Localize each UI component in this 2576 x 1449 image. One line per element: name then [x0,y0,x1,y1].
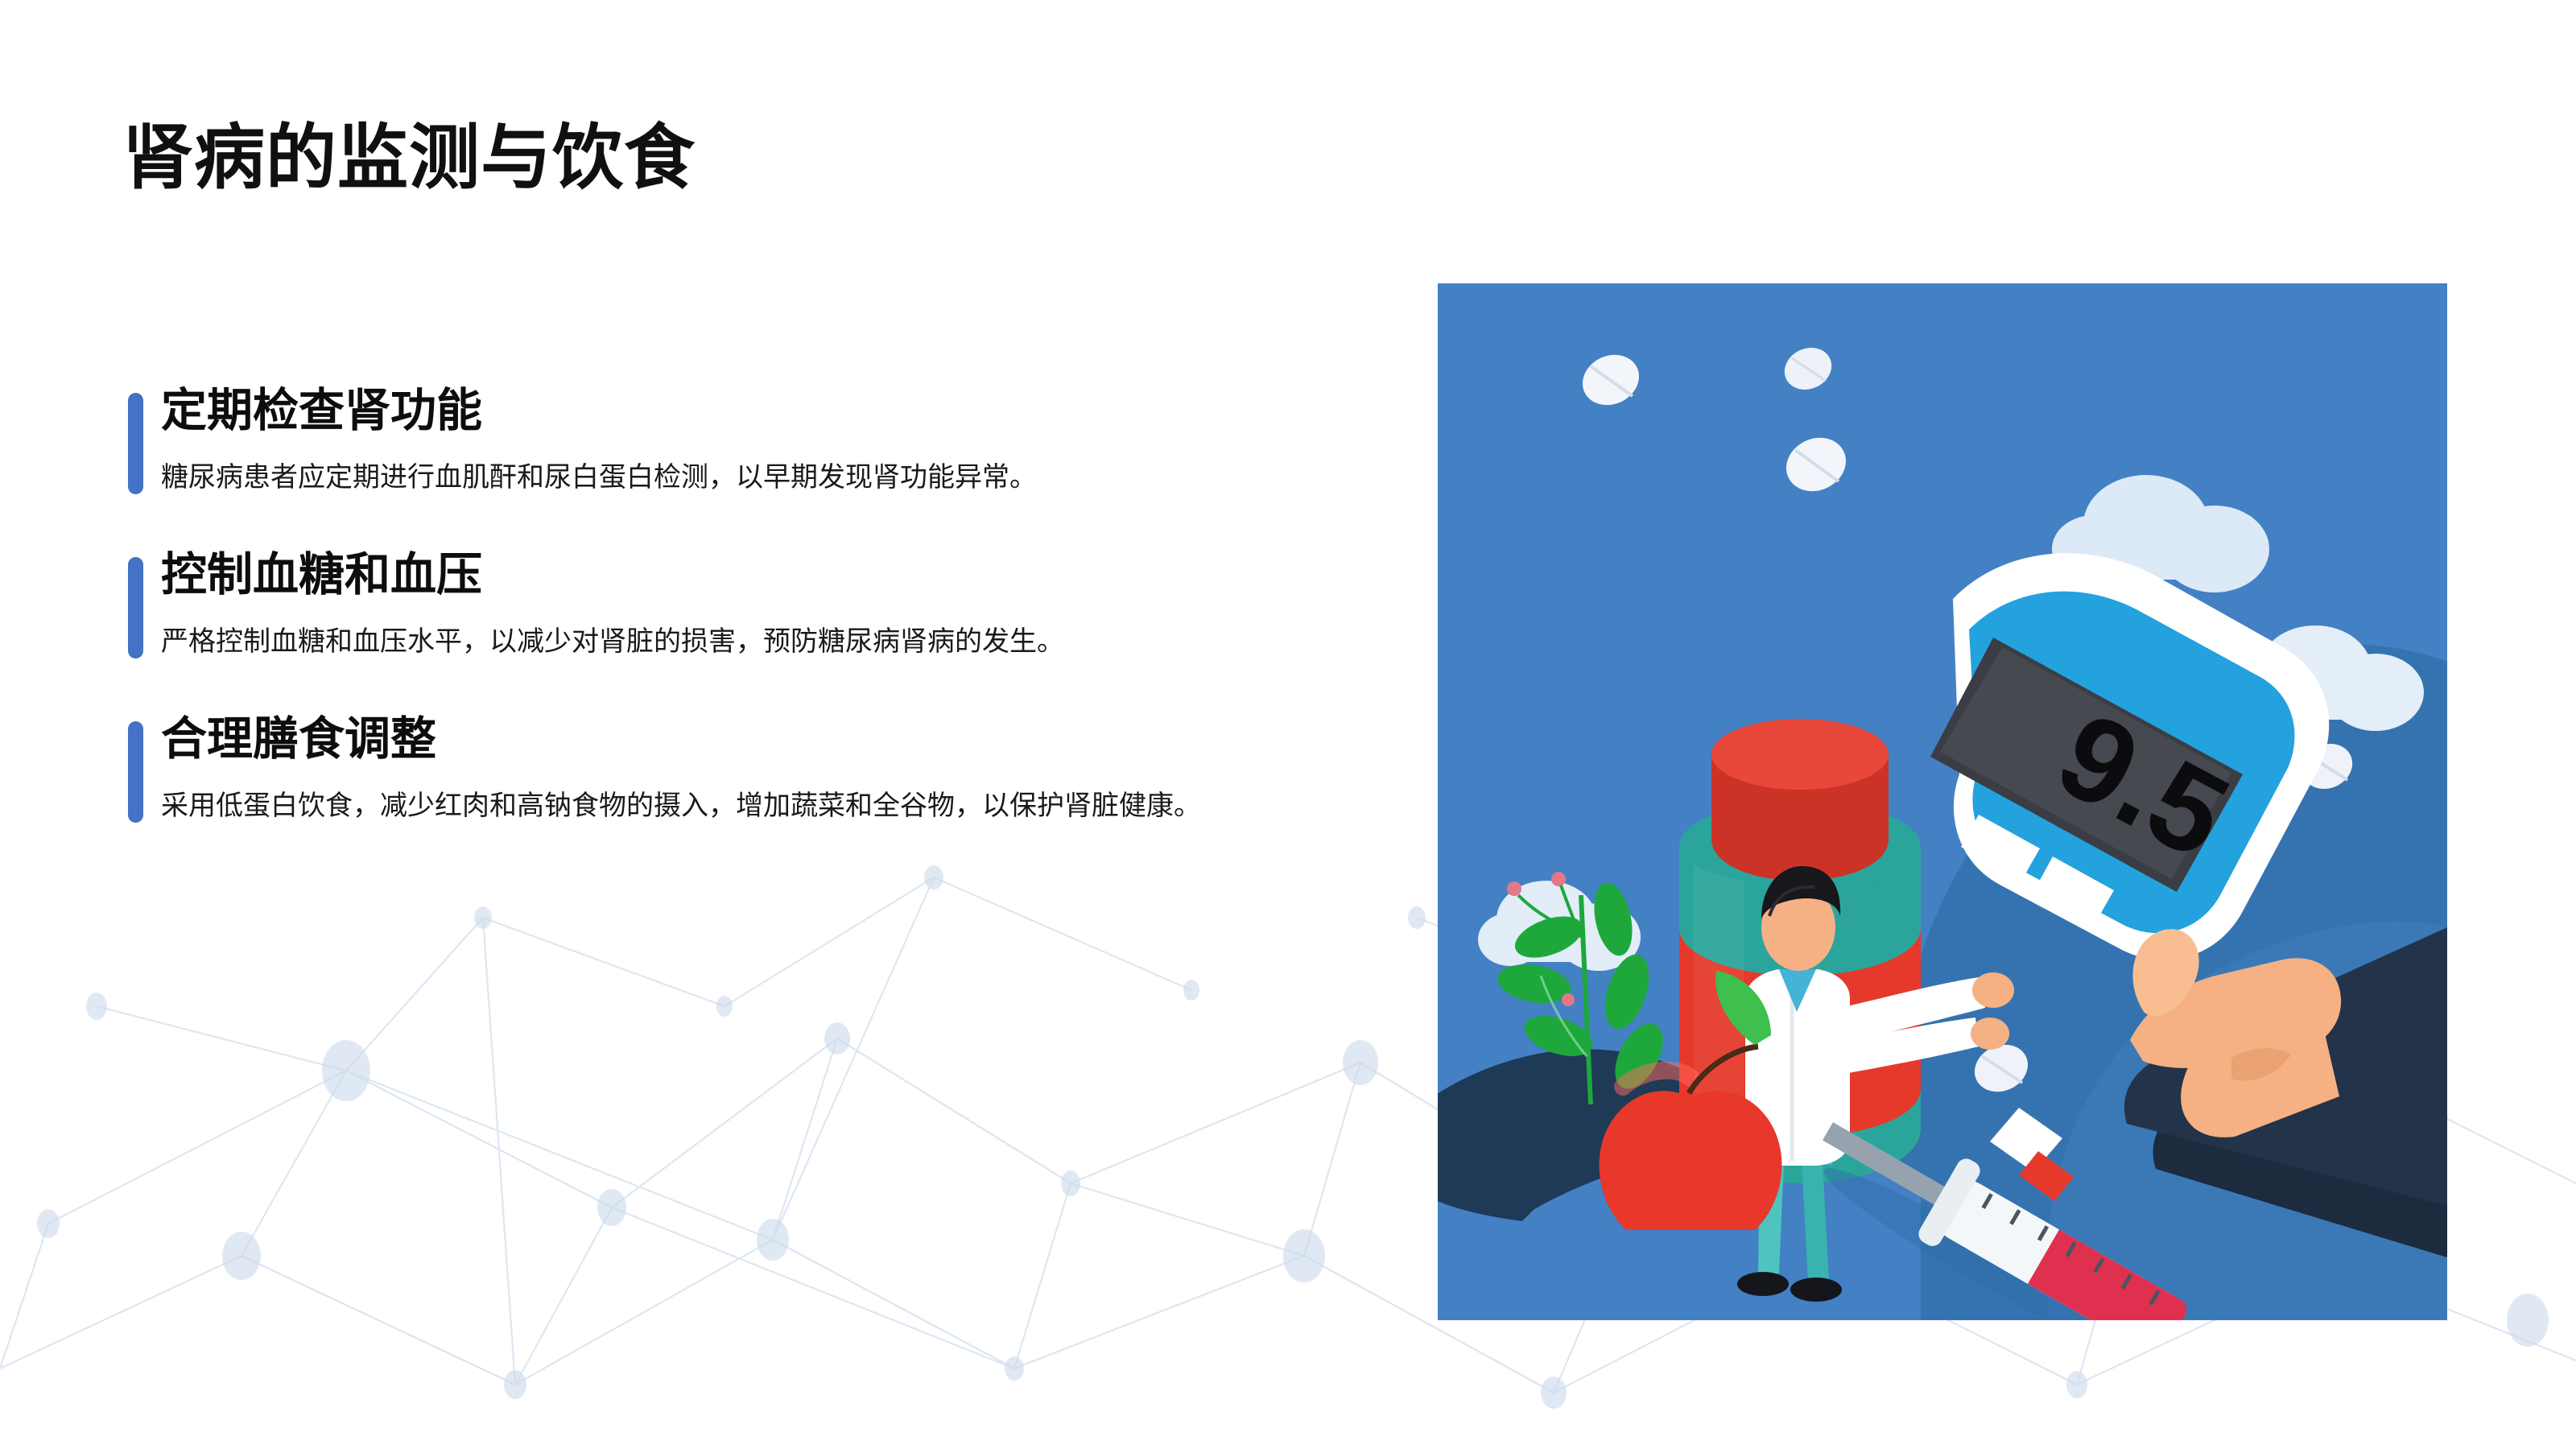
section-heading-1: 定期检查肾功能 [161,378,1346,443]
section-block-3: 合理膳食调整 采用低蛋白饮食，减少红肉和高钠食物的摄入，增加蔬菜和全谷物，以保护… [122,707,1346,829]
content-column: 定期检查肾功能 糖尿病患者应定期进行血肌酐和尿白蛋白检测，以早期发现肾功能异常。… [122,378,1346,829]
slide-root: 肾病的监测与饮食 定期检查肾功能 糖尿病患者应定期进行血肌酐和尿白蛋白检测，以早… [0,0,2576,1449]
section-body-3: 采用低蛋白饮食，减少红肉和高钠食物的摄入，增加蔬菜和全谷物，以保护肾脏健康。 [161,782,1312,829]
section-body-2: 严格控制血糖和血压水平，以减少对肾脏的损害，预防糖尿病肾病的发生。 [161,618,1312,665]
accent-bar-3 [128,721,143,823]
section-heading-3: 合理膳食调整 [161,707,1346,771]
section-body-1: 糖尿病患者应定期进行血肌酐和尿白蛋白检测，以早期发现肾功能异常。 [161,454,1312,501]
accent-bar-2 [128,557,143,658]
page-title: 肾病的监测与饮食 [122,113,696,203]
diabetes-monitoring-illustration: 9.5 [1438,283,2447,1320]
accent-bar-1 [128,393,143,494]
section-heading-2: 控制血糖和血压 [161,543,1346,607]
section-block-1: 定期检查肾功能 糖尿病患者应定期进行血肌酐和尿白蛋白检测，以早期发现肾功能异常。 [122,378,1346,501]
section-block-2: 控制血糖和血压 严格控制血糖和血压水平，以减少对肾脏的损害，预防糖尿病肾病的发生… [122,543,1346,665]
